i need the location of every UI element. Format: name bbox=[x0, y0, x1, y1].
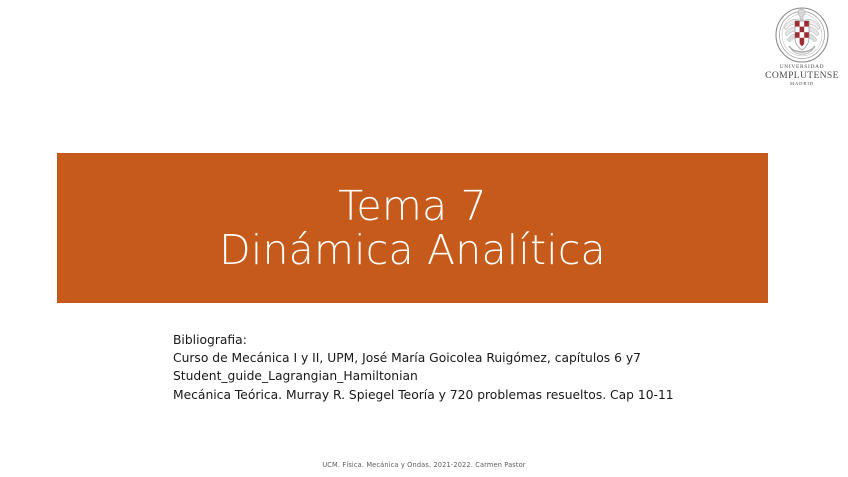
logo-wordmark: UNIVERSIDAD COMPLUTENSE MADRID bbox=[765, 65, 839, 87]
bibliography-heading: Bibliografia: bbox=[173, 331, 773, 349]
universidad-complutense-madrid-logo: UNIVERSIDAD COMPLUTENSE MADRID bbox=[762, 6, 842, 90]
slide-footer: UCM. Física. Mecánica y Ondas. 2021-2022… bbox=[0, 461, 848, 469]
slide-title-line-1: Tema 7 bbox=[338, 184, 487, 228]
slide-canvas: UNIVERSIDAD COMPLUTENSE MADRID Tema 7 Di… bbox=[0, 0, 848, 477]
logo-line-complutense: COMPLUTENSE bbox=[765, 71, 839, 81]
slide-title-line-2: Dinámica Analítica bbox=[219, 228, 606, 272]
logo-line-madrid: MADRID bbox=[765, 82, 839, 87]
title-banner: Tema 7 Dinámica Analítica bbox=[57, 153, 768, 303]
bibliography-entry: Mecánica Teórica. Murray R. Spiegel Teor… bbox=[173, 386, 773, 404]
university-seal-icon bbox=[773, 6, 831, 64]
bibliography-entry: Curso de Mecánica I y II, UPM, José Marí… bbox=[173, 349, 773, 367]
bibliography-block: Bibliografia: Curso de Mecánica I y II, … bbox=[173, 331, 773, 404]
bibliography-entry: Student_guide_Lagrangian_Hamiltonian bbox=[173, 367, 773, 385]
